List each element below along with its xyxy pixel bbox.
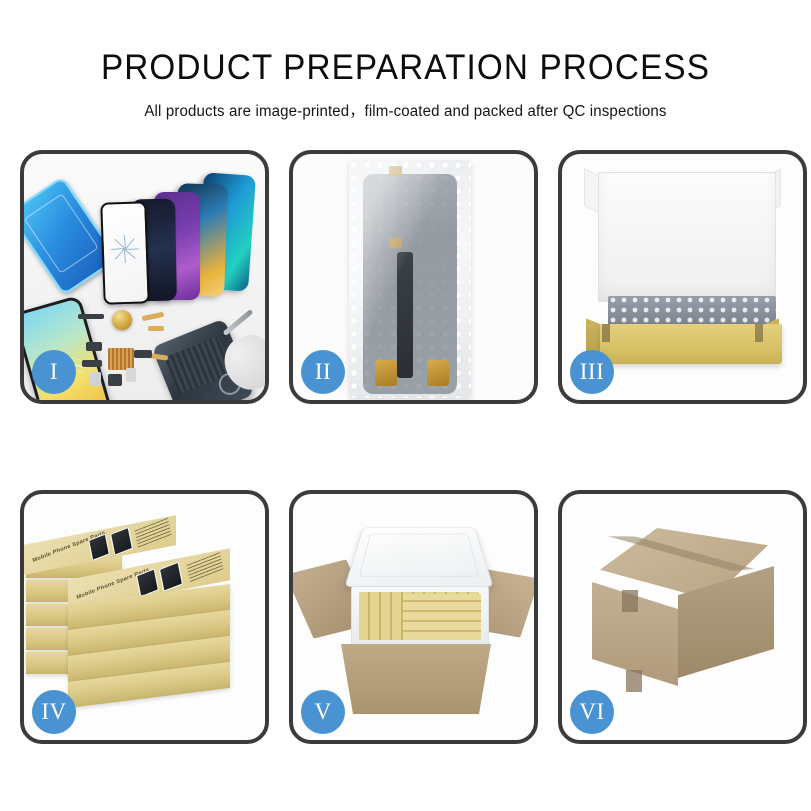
step-badge-1: I	[32, 350, 76, 394]
tape-icon	[389, 166, 402, 176]
box-art-screen-icon	[159, 562, 183, 592]
step-panel-4: Mobile Phone Spare Parts Mobile Phone Sp…	[20, 490, 269, 744]
bubble-wrap-icon	[608, 296, 776, 326]
flex-cable-icon	[148, 326, 164, 331]
small-part-icon	[78, 314, 104, 319]
tape-icon	[626, 670, 642, 692]
box-art-screen-icon	[110, 527, 133, 556]
header: PRODUCT PREPARATION PROCESS All products…	[0, 0, 811, 122]
step-panel-1: I	[20, 150, 269, 404]
small-part-icon	[126, 368, 136, 382]
step-badge-4: IV	[32, 690, 76, 734]
step-panel-2: II	[289, 150, 538, 404]
step-panel-5: V	[289, 490, 538, 744]
screwdriver-icon	[223, 309, 254, 336]
step-panel-3: III	[558, 150, 807, 404]
step-badge-6: VI	[570, 690, 614, 734]
tape-icon	[622, 590, 638, 612]
foam-lid-icon	[344, 527, 493, 587]
flex-cable-icon	[142, 312, 165, 321]
carton-body-icon	[341, 644, 491, 714]
chip-array-icon	[108, 348, 134, 370]
box-spec-text-block	[187, 552, 224, 582]
tape-icon	[389, 238, 402, 248]
box-notch-right	[755, 324, 763, 342]
gold-component-icon	[112, 310, 132, 330]
page-title: PRODUCT PREPARATION PROCESS	[20, 48, 790, 88]
step-badge-5: V	[301, 690, 345, 734]
step-badge-3: III	[570, 350, 614, 394]
bubble-wrap-icon	[349, 160, 471, 398]
step-badge-2: II	[301, 350, 345, 394]
step-panel-6: VI	[558, 490, 807, 744]
gold-connector-icon	[375, 360, 397, 386]
small-part-icon	[90, 372, 101, 386]
box-lid-icon	[598, 172, 776, 302]
product-preparation-infographic: PRODUCT PREPARATION PROCESS All products…	[0, 0, 811, 811]
crack-pattern-icon	[109, 234, 140, 265]
gold-boxes-inside-icon	[403, 594, 481, 640]
gold-connector-icon	[427, 360, 449, 386]
process-steps-grid: I II	[20, 150, 795, 744]
box-spec-text-block	[135, 518, 172, 548]
small-part-icon	[82, 360, 102, 367]
cracked-glass-screen-icon	[100, 201, 150, 305]
page-subtitle: All products are image-printed，film-coat…	[12, 102, 799, 122]
small-part-icon	[134, 350, 152, 358]
box-notch-left	[602, 324, 610, 342]
small-part-icon	[86, 342, 102, 351]
small-part-icon	[108, 374, 122, 386]
flex-cable-icon	[397, 252, 413, 378]
